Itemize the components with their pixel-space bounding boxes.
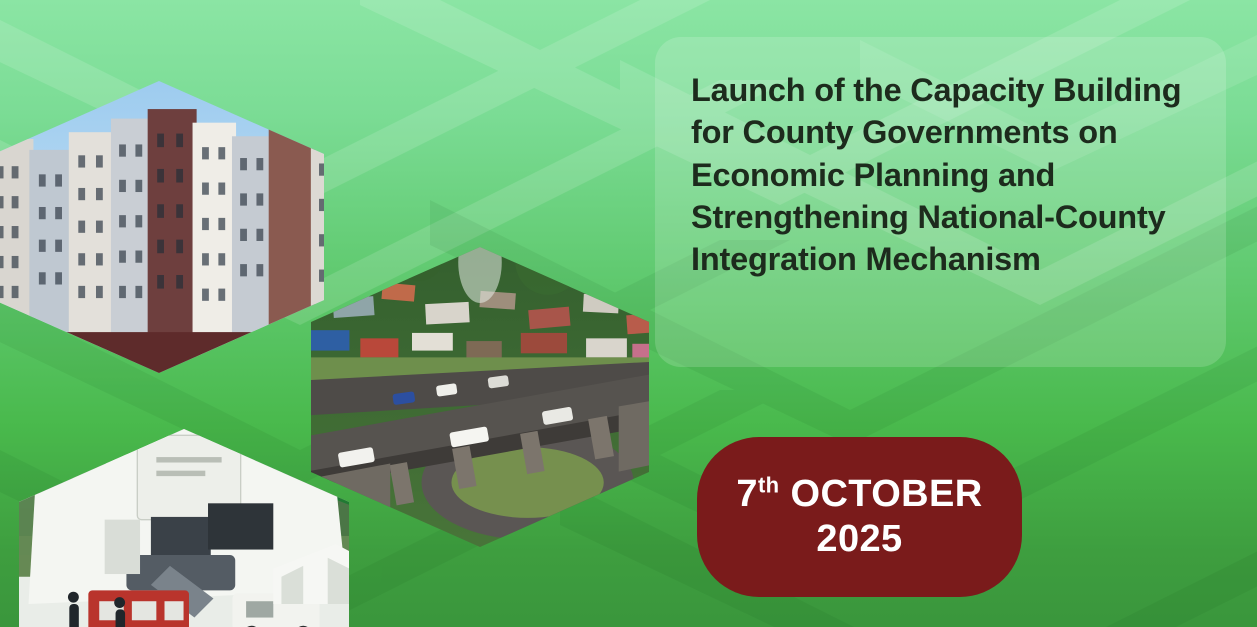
event-date-badge: 7th OCTOBER 2025 xyxy=(697,437,1022,597)
date-ordinal-suffix: th xyxy=(758,472,780,497)
housing-photo-art xyxy=(0,81,324,373)
hexagon-photo-cluster xyxy=(0,0,690,627)
event-banner: Launch of the Capacity Building for Coun… xyxy=(0,0,1257,627)
page-title: Launch of the Capacity Building for Coun… xyxy=(691,69,1190,280)
photo-hexagon-highway-aerial xyxy=(311,247,649,547)
date-year: 2025 xyxy=(816,518,902,561)
date-month: OCTOBER xyxy=(790,473,982,515)
date-day: 7 xyxy=(736,473,758,515)
event-title-card: Launch of the Capacity Building for Coun… xyxy=(655,37,1226,367)
health-equipment-photo-art xyxy=(19,429,349,627)
photo-hexagon-housing xyxy=(0,81,324,373)
highway-aerial-photo-art xyxy=(311,247,649,547)
photo-hexagon-health-equipment xyxy=(19,429,349,627)
date-day-month: 7th OCTOBER xyxy=(736,473,982,516)
